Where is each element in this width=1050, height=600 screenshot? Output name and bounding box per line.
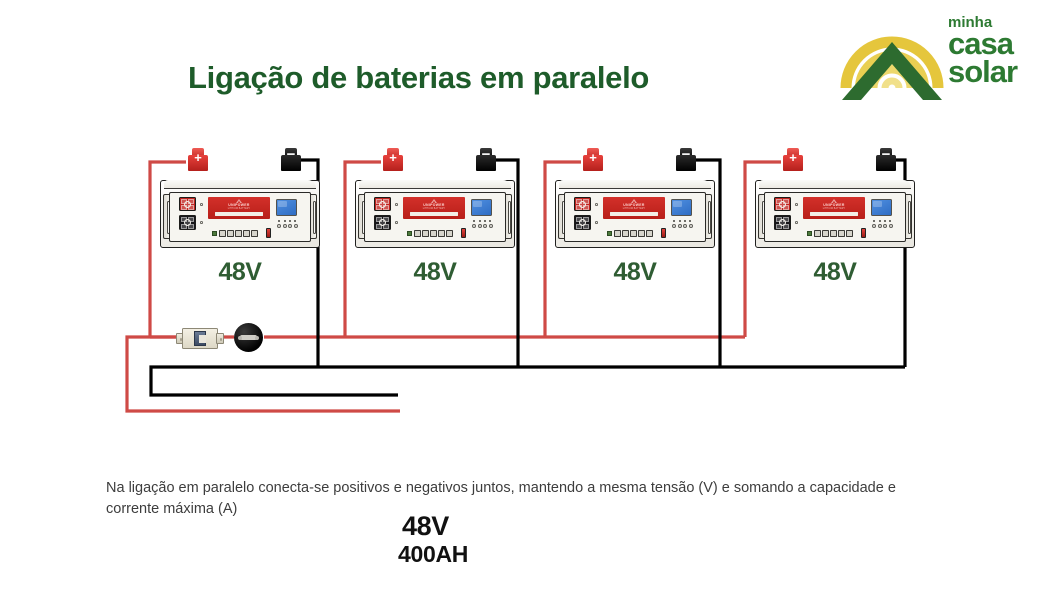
battery-4-negative-terminal[interactable]: − (874, 148, 898, 171)
battery-2-negative-terminal[interactable]: − (474, 148, 498, 171)
brand-subtitle: LITHIUM BATTERY (803, 208, 865, 210)
battery-unit-3[interactable]: + − UNIPOWER LITHIU (555, 170, 715, 248)
battery-top-lid (559, 180, 711, 189)
parallel-battery-wiring-diagram: + − UNIPOWER (0, 130, 1050, 460)
positive-sign: + (186, 153, 210, 163)
label-white-strip (810, 212, 858, 216)
communication-port-row[interactable] (807, 229, 855, 238)
header: Ligação de baterias em paralelo minha ca… (0, 0, 1050, 130)
battery-2-positive-terminal[interactable]: + (381, 148, 405, 171)
output-capacity-label: 400AH (398, 541, 468, 568)
positive-busbar-block (774, 197, 791, 211)
explanation-caption: Na ligação em paralelo conecta-se positi… (106, 478, 936, 520)
positive-busbar-block (374, 197, 391, 211)
sun-roof-logo-icon (840, 12, 945, 104)
label-white-strip (215, 212, 263, 216)
led-indicator-row (872, 220, 893, 229)
negative-sign: − (874, 150, 898, 160)
communication-port-row[interactable] (607, 229, 655, 238)
power-switch[interactable] (266, 228, 271, 238)
lcd-display[interactable] (276, 199, 297, 216)
positive-sign: + (781, 153, 805, 163)
status-led-green (607, 231, 612, 236)
communication-port-row[interactable] (212, 229, 260, 238)
battery-front-panel: UNIPOWER LITHIUM BATTERY (169, 192, 311, 242)
battery-1-negative-terminal[interactable]: − (279, 148, 303, 171)
brand-name: UNIPOWER (208, 203, 270, 207)
battery-front-panel: UNIPOWER LITHIUM BATTERY (564, 192, 706, 242)
brand-label-panel: UNIPOWER LITHIUM BATTERY (803, 197, 865, 219)
brand-logo: minha casa solar (840, 8, 1040, 108)
negative-busbar-block (774, 215, 791, 230)
battery-4-positive-terminal[interactable]: + (781, 148, 805, 171)
brand-label-panel: UNIPOWER LITHIUM BATTERY (403, 197, 465, 219)
negative-sign: − (674, 150, 698, 160)
label-white-strip (410, 212, 458, 216)
battery-front-panel: UNIPOWER LITHIUM BATTERY (364, 192, 506, 242)
negative-busbar-block (374, 215, 391, 230)
negative-busbar-block (574, 215, 591, 230)
status-led-green (407, 231, 412, 236)
battery-4-voltage-label: 48V (755, 258, 915, 287)
status-led-green (212, 231, 217, 236)
negative-busbar-block (179, 215, 196, 230)
battery-front-panel: UNIPOWER LITHIUM BATTERY (764, 192, 906, 242)
positive-busbar-block (574, 197, 591, 211)
brand-subtitle: LITHIUM BATTERY (603, 208, 665, 210)
power-switch[interactable] (661, 228, 666, 238)
page-title: Ligação de baterias em paralelo (188, 62, 649, 93)
led-indicator-row (472, 220, 493, 229)
brand-subtitle: LITHIUM BATTERY (403, 208, 465, 210)
brand-subtitle: LITHIUM BATTERY (208, 208, 270, 210)
positive-sign: + (581, 153, 605, 163)
battery-3-voltage-label: 48V (555, 258, 715, 287)
communication-port-row[interactable] (407, 229, 455, 238)
battery-unit-1[interactable]: + − UNIPOWER (160, 170, 320, 248)
positive-sign: + (381, 153, 405, 163)
logo-line-solar: solar (948, 58, 1040, 87)
battery-top-lid (759, 180, 911, 189)
battery-1-positive-terminal[interactable]: + (186, 148, 210, 171)
fuse-element (194, 331, 206, 346)
negative-sign: − (474, 150, 498, 160)
fuse-holder-icon[interactable] (176, 328, 224, 349)
battery-3-negative-terminal[interactable]: − (674, 148, 698, 171)
brand-label-panel: UNIPOWER LITHIUM BATTERY (208, 197, 270, 219)
positive-busbar-block (179, 197, 196, 211)
negative-sign: − (279, 150, 303, 160)
battery-unit-4[interactable]: + − UNIPOWER LITHIU (755, 170, 915, 248)
brand-name: UNIPOWER (803, 203, 865, 207)
brand-name: UNIPOWER (403, 203, 465, 207)
brand-wordmark: minha casa solar (948, 16, 1040, 98)
fuse-cap-right (216, 333, 224, 344)
battery-2-voltage-label: 48V (355, 258, 515, 287)
battery-3-positive-terminal[interactable]: + (581, 148, 605, 171)
lcd-display[interactable] (671, 199, 692, 216)
brand-name: UNIPOWER (603, 203, 665, 207)
status-led-green (807, 231, 812, 236)
battery-top-lid (359, 180, 511, 189)
lcd-display[interactable] (871, 199, 892, 216)
led-indicator-row (277, 220, 298, 229)
brand-label-panel: UNIPOWER LITHIUM BATTERY (603, 197, 665, 219)
label-white-strip (610, 212, 658, 216)
battery-1-voltage-label: 48V (160, 258, 320, 287)
led-indicator-row (672, 220, 693, 229)
circuit-breaker-icon[interactable] (234, 323, 263, 352)
battery-unit-2[interactable]: + − UNIPOWER LITHIU (355, 170, 515, 248)
breaker-contact (240, 335, 257, 340)
power-switch[interactable] (861, 228, 866, 238)
battery-top-lid (164, 180, 316, 189)
power-switch[interactable] (461, 228, 466, 238)
lcd-display[interactable] (471, 199, 492, 216)
